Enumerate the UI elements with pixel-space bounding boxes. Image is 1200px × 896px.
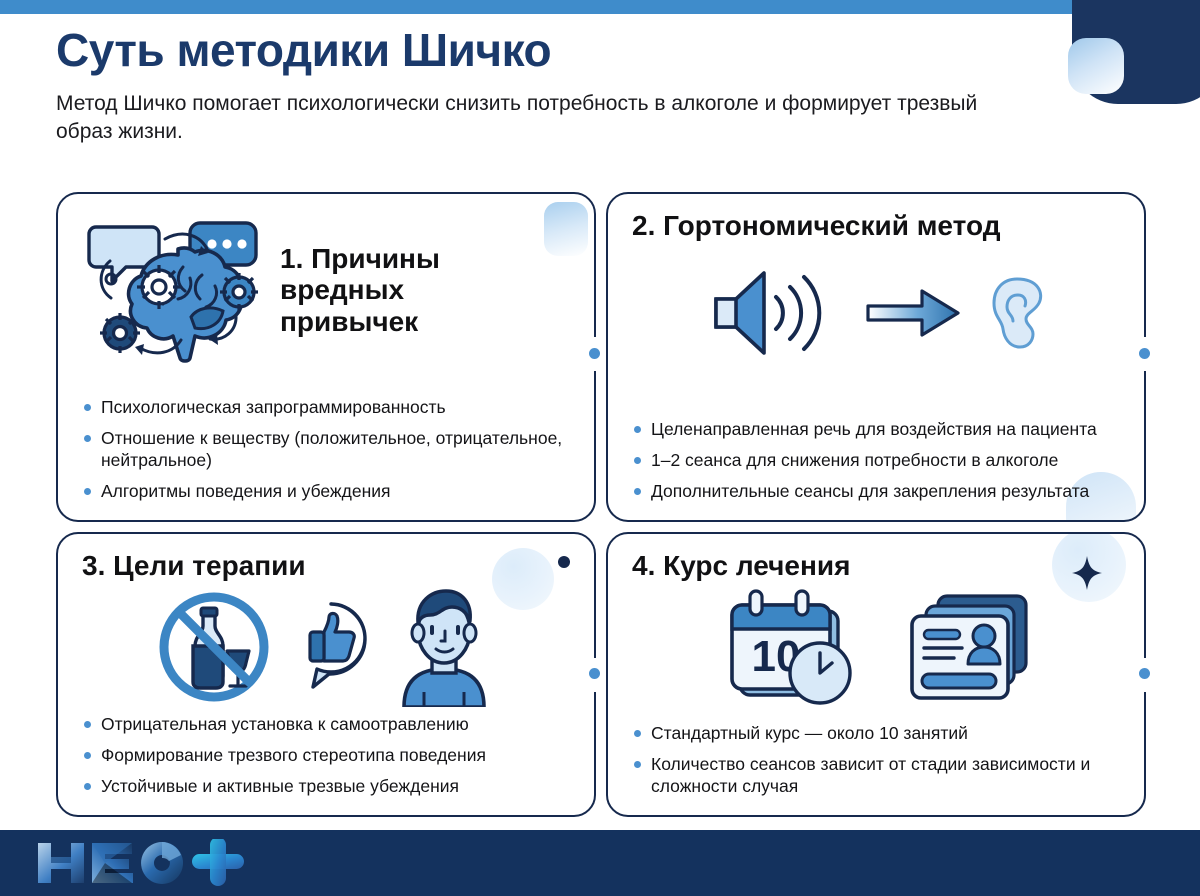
list-item: Дополнительные сеансы для закрепления ре… [632, 480, 1122, 502]
card-therapy-goals[interactable]: 3. Цели терапии [56, 532, 596, 817]
card-treatment-course[interactable]: 4. Курс лечения 10 [606, 532, 1146, 817]
list-item: Количество сеансов зависит от стадии зав… [632, 753, 1122, 797]
card-grid: 1. Причины вредных привычек Психологичес… [56, 192, 1146, 817]
decor-border-dot [589, 668, 600, 679]
no-alcohol-icon [154, 588, 274, 706]
top-accent-bar [0, 0, 1200, 14]
thumbs-up-bubble-icon [292, 599, 370, 695]
card-title: 3. Цели терапии [82, 550, 572, 581]
list-item: 1–2 сеанса для снижения потребности в ал… [632, 449, 1122, 471]
brain-gears-icon [82, 215, 272, 365]
page-title: Суть методики Шичко [56, 26, 1056, 76]
list-item: Стандартный курс — около 10 занятий [632, 722, 1122, 744]
decor-gradient-square [544, 202, 588, 256]
card-title: 2. Гортономический метод [632, 210, 1122, 241]
list-item: Формирование трезвого стереотипа поведен… [82, 744, 572, 766]
person-icon [388, 587, 500, 707]
list-item: Психологическая запрограммированность [82, 396, 572, 418]
corner-gradient-square [1068, 38, 1124, 94]
page-header: Суть методики Шичко Метод Шичко помогает… [56, 26, 1056, 146]
id-cards-icon [904, 590, 1030, 706]
calendar-icon: 10 [724, 587, 858, 709]
page-subtitle: Метод Шичко помогает психологически сниз… [56, 90, 986, 146]
list-item: Алгоритмы поведения и убеждения [82, 480, 572, 502]
card-bullets: Психологическая запрограммированность От… [82, 396, 572, 508]
ear-icon [988, 275, 1046, 351]
card-title: 1. Причины вредных привычек [280, 243, 510, 337]
arrow-right-icon [866, 285, 962, 341]
list-item: Целенаправленная речь для воздействия на… [632, 418, 1122, 440]
speaker-icon [708, 263, 840, 363]
card-bullets: Целенаправленная речь для воздействия на… [632, 418, 1122, 508]
decor-border-dot [589, 348, 600, 359]
list-item: Отношение к веществу (положительное, отр… [82, 427, 572, 471]
card-causes[interactable]: 1. Причины вредных привычек Психологичес… [56, 192, 596, 522]
card-bullets: Стандартный курс — около 10 занятий Коли… [632, 722, 1122, 803]
card-bullets: Отрицательная установка к самоотравлению… [82, 713, 572, 803]
footer-bar [0, 830, 1200, 896]
decor-border-dot [1139, 348, 1150, 359]
list-item: Устойчивые и активные трезвые убеждения [82, 775, 572, 797]
decor-border-dot [1139, 668, 1150, 679]
card-title: 4. Курс лечения [632, 550, 1122, 581]
neo-plus-logo [34, 839, 249, 887]
list-item: Отрицательная установка к самоотравлению [82, 713, 572, 735]
card-gortonomic-method[interactable]: 2. Гортономический метод [606, 192, 1146, 522]
